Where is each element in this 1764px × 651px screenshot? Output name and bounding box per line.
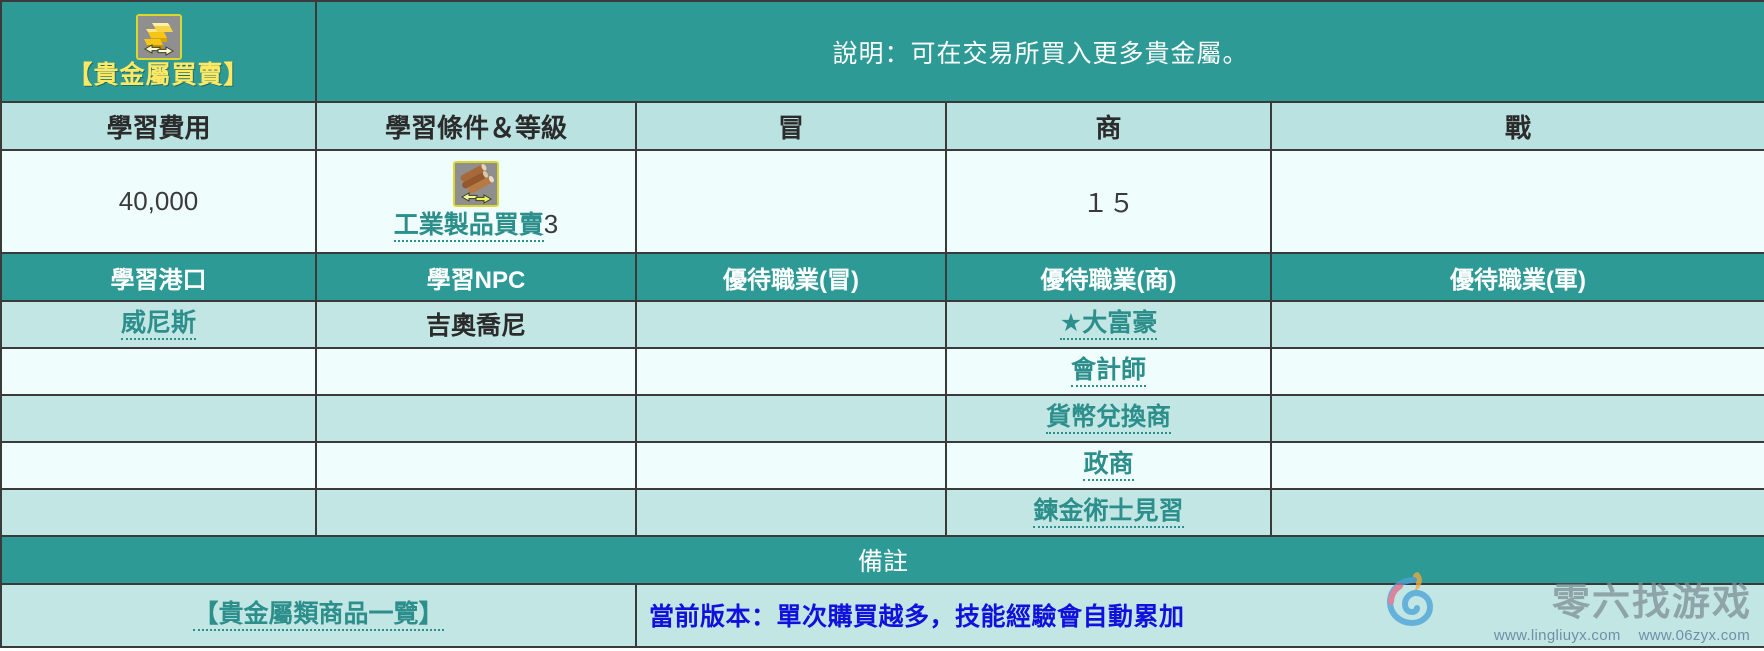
- cell-fav-trade: ★大富豪: [946, 301, 1271, 348]
- skill-title-cell: 【貴金屬買賣】: [1, 1, 316, 102]
- skill-title-label: 【貴金屬買賣】: [8, 62, 309, 90]
- fav-trade-job-link[interactable]: 政商: [1083, 450, 1133, 481]
- header-adventure-label: 冒: [778, 113, 804, 143]
- cell-npc: [316, 489, 636, 536]
- cell-fav-battle: [1271, 395, 1764, 442]
- cell-npc: [316, 348, 636, 395]
- cell-npc: [316, 442, 636, 489]
- cell-fav-trade: 貨幣兌換商: [946, 395, 1271, 442]
- watermark-url-1: www.lingliuyx.com: [1494, 627, 1621, 644]
- cell-port: [1, 348, 316, 395]
- watermark-urls: www.lingliuyx.com www.06zyx.com: [1494, 627, 1750, 644]
- cell-trade-value: １５: [946, 150, 1271, 253]
- header-cost: 學習費用: [1, 102, 316, 150]
- skill-description-text: 說明：可在交易所買入更多貴金屬。: [833, 40, 1249, 68]
- industrial-goods-trade-icon: [453, 161, 499, 207]
- fav-trade-job-link[interactable]: 會計師: [1071, 356, 1146, 387]
- fav-trade-job-link[interactable]: 鍊金術士見習: [1033, 497, 1183, 528]
- remark-band-row: 備註: [1, 536, 1764, 584]
- condition-level: 3: [544, 209, 558, 239]
- header-row-1: 學習費用 學習條件＆等級 冒 商 戰: [1, 102, 1764, 150]
- cell-fav-battle: [1271, 489, 1764, 536]
- cell-fav-adventure: [636, 489, 946, 536]
- cell-fav-trade: 政商: [946, 442, 1271, 489]
- cell-battle-value: [1271, 150, 1764, 253]
- header-fav-adventure: 優待職業(冒): [636, 253, 946, 301]
- cell-npc: [316, 395, 636, 442]
- cell-adventure-value: [636, 150, 946, 253]
- header-battle: 戰: [1271, 102, 1764, 150]
- cell-cost-value: 40,000: [1, 150, 316, 253]
- header-condition-label: 學習條件＆等級: [385, 113, 567, 143]
- cell-fav-adventure: [636, 395, 946, 442]
- header-npc-label: 學習NPC: [427, 267, 526, 294]
- cell-fav-battle: [1271, 301, 1764, 348]
- table-row: 政商: [1, 442, 1764, 489]
- header-port-label: 學習港口: [111, 267, 207, 294]
- cell-condition-value: 工業製品買賣3: [316, 150, 636, 253]
- condition-skill-link[interactable]: 工業製品買賣: [394, 211, 544, 242]
- data-row-1: 40,000 工業製: [1, 150, 1764, 253]
- remark-band: 備註: [1, 536, 1764, 584]
- header-fav-trade-label: 優待職業(商): [1041, 267, 1177, 294]
- header-fav-trade: 優待職業(商): [946, 253, 1271, 301]
- header-condition: 學習條件＆等級: [316, 102, 636, 150]
- condition-line: 工業製品買賣3: [323, 209, 629, 242]
- cell-fav-battle: [1271, 348, 1764, 395]
- watermark-url-2: www.06zyx.com: [1639, 627, 1750, 644]
- skill-description-cell: 說明：可在交易所買入更多貴金屬。: [316, 1, 1764, 102]
- skill-info-table-page: 【貴金屬買賣】 說明：可在交易所買入更多貴金屬。 學習費用 學習條件＆等級 冒 …: [0, 0, 1764, 648]
- cell-fav-adventure: [636, 348, 946, 395]
- header-trade-label: 商: [1095, 113, 1121, 143]
- fav-trade-job-link[interactable]: ★大富豪: [1060, 309, 1157, 340]
- npc-name: 吉奧喬尼: [426, 312, 526, 340]
- header-adventure: 冒: [636, 102, 946, 150]
- gold-bars-trade-icon: [136, 14, 182, 60]
- cell-fav-trade: 會計師: [946, 348, 1271, 395]
- cell-fav-battle: [1271, 442, 1764, 489]
- header-fav-battle-label: 優待職業(軍): [1450, 267, 1586, 294]
- table-row: 貨幣兌換商: [1, 395, 1764, 442]
- cell-port: [1, 395, 316, 442]
- cell-port: 威尼斯: [1, 301, 316, 348]
- header-cost-label: 學習費用: [106, 113, 210, 143]
- cell-npc: 吉奧喬尼: [316, 301, 636, 348]
- cell-fav-adventure: [636, 442, 946, 489]
- cell-fav-trade: 鍊金術士見習: [946, 489, 1271, 536]
- table-row: 威尼斯 吉奧喬尼 ★大富豪: [1, 301, 1764, 348]
- port-link[interactable]: 威尼斯: [121, 309, 196, 340]
- goods-list-link[interactable]: 【貴金屬類商品一覽】: [193, 600, 443, 631]
- fav-trade-job-link[interactable]: 貨幣兌換商: [1046, 403, 1171, 434]
- header-trade: 商: [946, 102, 1271, 150]
- header-row-2: 學習港口 學習NPC 優待職業(冒) 優待職業(商) 優待職業(軍): [1, 253, 1764, 301]
- table-row: 會計師: [1, 348, 1764, 395]
- header-port: 學習港口: [1, 253, 316, 301]
- skill-table: 【貴金屬買賣】 說明：可在交易所買入更多貴金屬。 學習費用 學習條件＆等級 冒 …: [0, 0, 1764, 648]
- table-row: 鍊金術士見習: [1, 489, 1764, 536]
- title-row: 【貴金屬買賣】 說明：可在交易所買入更多貴金屬。: [1, 1, 1764, 102]
- cost-value: 40,000: [119, 186, 199, 216]
- remark-band-label: 備註: [858, 548, 908, 576]
- trade-value: １５: [1082, 188, 1134, 218]
- watermark-brand: 零六找游戏: [1552, 571, 1752, 626]
- remark-left-cell: 【貴金屬類商品一覽】: [1, 584, 636, 647]
- header-fav-adventure-label: 優待職業(冒): [723, 267, 859, 294]
- cell-port: [1, 489, 316, 536]
- header-npc: 學習NPC: [316, 253, 636, 301]
- cell-port: [1, 442, 316, 489]
- cell-fav-adventure: [636, 301, 946, 348]
- header-battle-label: 戰: [1505, 113, 1531, 143]
- header-fav-battle: 優待職業(軍): [1271, 253, 1764, 301]
